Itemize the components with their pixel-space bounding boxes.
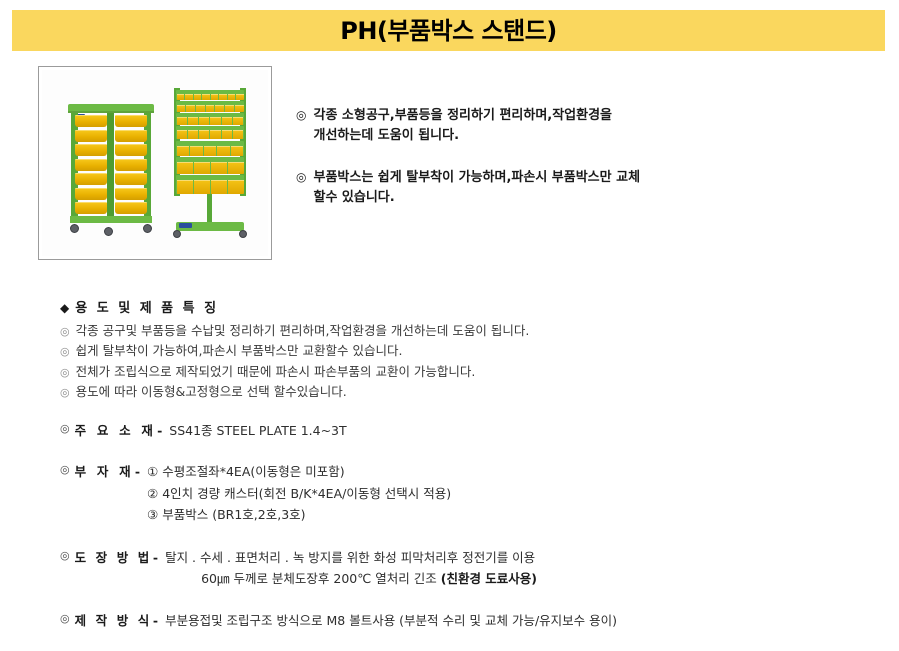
parts-bin: [115, 144, 147, 156]
caster-wheel: [70, 224, 79, 233]
parts-bin: [115, 159, 147, 171]
highlight-line: 부품박스는 쉽게 탈부착이 가능하며,파손시 부품박스만 교체: [313, 168, 856, 188]
parts-bin: [222, 117, 232, 125]
painting-line-2-text: 60㎛ 두께로 분체도장후 200℃ 열처리 긴조: [201, 571, 441, 586]
cart-body: [71, 113, 151, 216]
diamond-marker-icon: ◆: [60, 301, 69, 315]
parts-bin: [225, 105, 234, 112]
parts-bin: [199, 117, 209, 125]
cart-bin-column-right: [115, 115, 147, 214]
page-title-banner: PH(부품박스 스탠드): [12, 10, 885, 51]
parts-bin: [188, 130, 198, 139]
parts-bin: [75, 173, 107, 185]
bullet-marker-icon: ◎: [60, 610, 70, 629]
feature-text: 쉽게 탈부착이 가능하여,파손시 부품박스만 교환할수 있습니다.: [76, 341, 403, 361]
highlight-line: 할수 있습니다.: [313, 188, 856, 208]
parts-bin: [75, 202, 107, 214]
parts-bin: [177, 162, 193, 174]
parts-bin: [177, 146, 190, 156]
feature-item: ◎ 전체가 조립식으로 제작되었기 때문에 파손시 파손부품의 교환이 가능합니…: [60, 362, 860, 382]
bullet-marker-icon: ◎: [60, 384, 70, 402]
caster-wheel: [173, 230, 181, 238]
product-overview-section: ◎ 각종 소형공구,부품등을 정리하기 편리하며,작업환경을 개선하는데 도움이…: [0, 62, 899, 267]
parts-bin: [190, 146, 203, 156]
parts-bin: [177, 180, 193, 194]
parts-bin: [211, 180, 227, 194]
sub-material-item: ① 수평조절좌*4EA(이동형은 미포함): [147, 461, 880, 482]
parts-bin: [186, 105, 195, 112]
rack-shelf: [176, 175, 244, 194]
parts-bin: [228, 94, 236, 100]
spec-value-manufacturing: 부분용접및 조립구조 방식으로 M8 볼트사용 (부분적 수리 및 교체 가능/…: [165, 610, 880, 631]
bullet-marker-icon: ◎: [296, 168, 306, 187]
bullet-marker-icon: ◎: [296, 106, 306, 125]
parts-bin: [177, 105, 186, 112]
parts-bin: [228, 162, 244, 174]
highlight-item: ◎ 각종 소형공구,부품등을 정리하기 편리하며,작업환경을 개선하는데 도움이…: [296, 106, 856, 146]
parts-bin: [177, 117, 187, 125]
parts-bin: [115, 173, 147, 185]
feature-text: 전체가 조립식으로 제작되었기 때문에 파손시 파손부품의 교환이 가능합니다.: [76, 362, 476, 382]
spec-label-painting: 도 장 방 법: [75, 547, 152, 568]
parts-bin: [228, 180, 244, 194]
cart-top-plate: [68, 104, 154, 113]
spec-value-material: SS41종 STEEL PLATE 1.4~3T: [169, 420, 880, 441]
painting-line-1: 탈지 . 수세 . 표면처리 . 녹 방지를 위한 화성 피막처리후 정전기를 …: [165, 547, 880, 568]
spec-dash: -: [153, 610, 158, 631]
parts-bin: [115, 115, 147, 127]
highlight-text: 각종 소형공구,부품등을 정리하기 편리하며,작업환경을 개선하는데 도움이 됩…: [313, 106, 856, 146]
spec-dash: -: [153, 547, 158, 568]
feature-text: 용도에 따라 이동형&고정형으로 선택 할수있습니다.: [76, 382, 347, 402]
spec-row-sub-materials: ◎ 부 자 재 - ① 수평조절좌*4EA(이동형은 미포함) ② 4인치 경량…: [60, 461, 880, 525]
parts-bin: [75, 130, 107, 142]
spec-value-sub-materials: ① 수평조절좌*4EA(이동형은 미포함) ② 4인치 경량 캐스터(회전 B/…: [147, 461, 880, 525]
spec-label-sub-materials: 부 자 재: [75, 461, 134, 482]
rack-shelf: [176, 113, 244, 125]
parts-bin: [204, 146, 217, 156]
list-number: ②: [147, 486, 158, 501]
parts-bin: [194, 162, 210, 174]
highlight-item: ◎ 부품박스는 쉽게 탈부착이 가능하며,파손시 부품박스만 교체 할수 있습니…: [296, 168, 856, 208]
bullet-marker-icon: ◎: [60, 323, 70, 341]
spec-row-painting: ◎ 도 장 방 법 - 탈지 . 수세 . 표면처리 . 녹 방지를 위한 화성…: [60, 547, 880, 590]
parts-bin: [194, 94, 202, 100]
parts-bin: [235, 105, 244, 112]
caster-wheel: [104, 227, 113, 236]
sub-material-item: ③ 부품박스 (BR1호,2호,3호): [147, 504, 880, 525]
features-heading-label: 용 도 및 제 품 특 징: [75, 301, 218, 316]
sub-material-text: 부품박스 (BR1호,2호,3호): [162, 507, 305, 522]
rack-shelf: [176, 141, 244, 156]
parts-bin: [215, 105, 224, 112]
parts-bin: [115, 202, 147, 214]
panel-rack-illustration: [170, 88, 250, 240]
cart-bin-column-left: [75, 115, 107, 214]
rack-shelf-stack: [176, 90, 244, 194]
highlight-list: ◎ 각종 소형공구,부품등을 정리하기 편리하며,작업환경을 개선하는데 도움이…: [296, 106, 856, 231]
parts-bin: [222, 130, 232, 139]
cart-post-middle: [107, 113, 114, 216]
page-title: PH(부품박스 스탠드): [340, 19, 557, 43]
feature-item: ◎ 용도에 따라 이동형&고정형으로 선택 할수있습니다.: [60, 382, 860, 402]
highlight-line: 개선하는데 도움이 됩니다.: [313, 126, 856, 146]
highlight-text: 부품박스는 쉽게 탈부착이 가능하며,파손시 부품박스만 교체 할수 있습니다.: [313, 168, 856, 208]
parts-bin: [206, 105, 215, 112]
specifications-section: ◎ 주 요 소 재 - SS41종 STEEL PLATE 1.4~3T ◎ 부…: [60, 420, 880, 651]
spec-dash: -: [135, 461, 140, 482]
parts-bin: [75, 115, 107, 127]
parts-bin: [219, 94, 227, 100]
feature-item: ◎ 각종 공구및 부품등을 수납및 정리하기 편리하며,작업환경을 개선하는데 …: [60, 321, 860, 341]
painting-eco-note: (친환경 도료사용): [441, 571, 537, 586]
bullet-marker-icon: ◎: [60, 547, 70, 566]
feature-text: 각종 공구및 부품등을 수납및 정리하기 편리하며,작업환경을 개선하는데 도움…: [76, 321, 530, 341]
feature-item: ◎ 쉽게 탈부착이 가능하여,파손시 부품박스만 교환할수 있습니다.: [60, 341, 860, 361]
sub-material-text: 수평조절좌*4EA(이동형은 미포함): [162, 464, 344, 479]
parts-bin: [194, 180, 210, 194]
spec-label-material: 주 요 소 재: [75, 420, 156, 441]
parts-bin: [75, 188, 107, 200]
rack-support-leg: [207, 194, 212, 224]
bullet-marker-icon: ◎: [60, 364, 70, 382]
parts-bin: [177, 94, 185, 100]
list-number: ③: [147, 507, 158, 522]
parts-bin: [115, 188, 147, 200]
bullet-marker-icon: ◎: [60, 420, 70, 439]
mobile-cart-illustration: [68, 104, 154, 236]
product-image-frame: [38, 66, 272, 260]
caster-wheel: [143, 224, 152, 233]
parts-bin: [185, 94, 193, 100]
parts-bin: [211, 162, 227, 174]
spec-value-painting: 탈지 . 수세 . 표면처리 . 녹 방지를 위한 화성 피막처리후 정전기를 …: [165, 547, 880, 590]
parts-bin: [177, 130, 187, 139]
parts-bin: [75, 159, 107, 171]
parts-bin: [188, 117, 198, 125]
parts-bin: [236, 94, 244, 100]
spec-row-material: ◎ 주 요 소 재 - SS41종 STEEL PLATE 1.4~3T: [60, 420, 880, 441]
bullet-marker-icon: ◎: [60, 343, 70, 361]
parts-bin: [202, 94, 210, 100]
rack-shelf: [176, 101, 244, 112]
rack-shelf: [176, 90, 244, 100]
highlight-line: 각종 소형공구,부품등을 정리하기 편리하며,작업환경을: [313, 106, 856, 126]
rack-shelf: [176, 126, 244, 139]
parts-bin: [233, 130, 243, 139]
parts-bin: [210, 117, 220, 125]
sub-material-item: ② 4인치 경량 캐스터(회전 B/K*4EA/이동형 선택시 적용): [147, 483, 880, 504]
parts-bin: [199, 130, 209, 139]
painting-line-2: 60㎛ 두께로 분체도장후 200℃ 열처리 긴조 (친환경 도료사용): [165, 568, 880, 589]
spec-dash: -: [157, 420, 162, 441]
parts-bin: [211, 94, 219, 100]
features-section: ◆용 도 및 제 품 특 징 ◎ 각종 공구및 부품등을 수납및 정리하기 편리…: [60, 297, 860, 402]
parts-bin: [217, 146, 230, 156]
rack-shelf: [176, 157, 244, 174]
list-number: ①: [147, 464, 158, 479]
sub-material-text: 4인치 경량 캐스터(회전 B/K*4EA/이동형 선택시 적용): [162, 486, 451, 501]
cart-base-frame: [70, 216, 152, 223]
parts-bin: [115, 130, 147, 142]
parts-bin: [233, 117, 243, 125]
features-heading: ◆용 도 및 제 품 특 징: [60, 297, 860, 316]
parts-bin: [196, 105, 205, 112]
parts-bin: [231, 146, 244, 156]
caster-wheel: [239, 230, 247, 238]
brand-label-icon: [179, 223, 192, 228]
bullet-marker-icon: ◎: [60, 461, 70, 480]
product-photo: [42, 70, 268, 256]
spec-row-manufacturing: ◎ 제 작 방 식 - 부분용접및 조립구조 방식으로 M8 볼트사용 (부분적…: [60, 610, 880, 631]
parts-bin: [75, 144, 107, 156]
parts-bin: [210, 130, 220, 139]
spec-label-manufacturing: 제 작 방 식: [75, 610, 152, 631]
